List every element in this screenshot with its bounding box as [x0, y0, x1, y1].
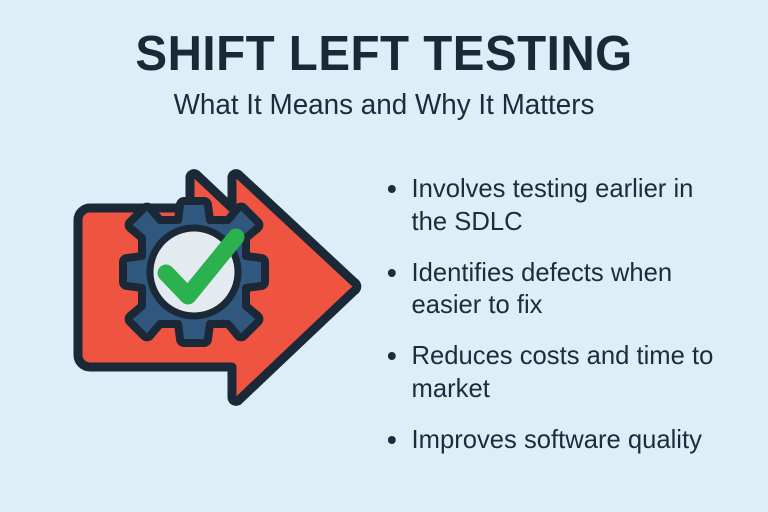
benefits-list: Involves testing earlier in the SDLC Ide…	[381, 172, 741, 455]
bullet-dot-icon	[388, 269, 396, 277]
header-block: SHIFT LEFT TESTING What It Means and Why…	[0, 30, 768, 120]
list-item-label: Improves software quality	[412, 423, 736, 456]
list-item-label: Involves testing earlier in the SDLC	[412, 172, 736, 238]
bullet-dot-icon	[388, 352, 396, 360]
page-subtitle: What It Means and Why It Matters	[15, 91, 752, 120]
list-item: Identifies defects when easier to fix	[381, 256, 736, 322]
arrow-gear-svg	[52, 160, 372, 420]
arrow-gear-illustration	[52, 160, 372, 420]
list-item: Involves testing earlier in the SDLC	[381, 172, 736, 238]
gear-group	[123, 201, 265, 343]
bullet-dot-icon	[388, 185, 396, 193]
list-item: Reduces costs and time to market	[381, 339, 736, 405]
bullet-dot-icon	[388, 436, 396, 444]
page-title: SHIFT LEFT TESTING	[12, 30, 757, 79]
list-item-label: Reduces costs and time to market	[412, 339, 736, 405]
infographic-poster: SHIFT LEFT TESTING What It Means and Why…	[0, 0, 768, 512]
list-item-label: Identifies defects when easier to fix	[412, 256, 736, 322]
list-item: Improves software quality	[381, 423, 736, 456]
